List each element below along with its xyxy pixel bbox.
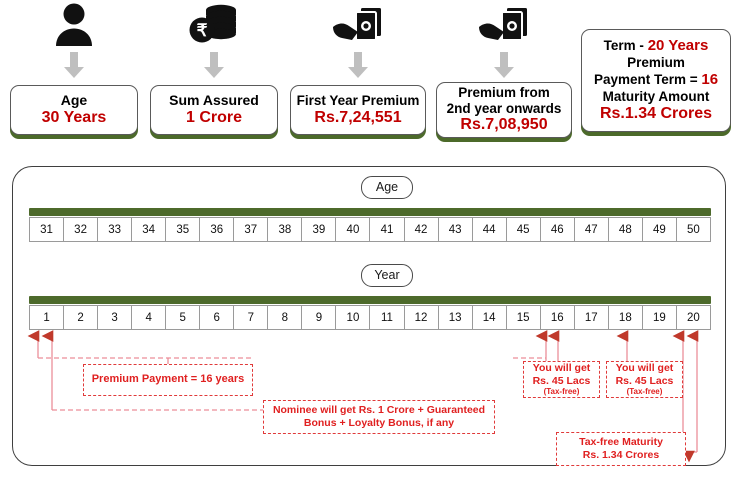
age-cell-43[interactable]: 43 — [439, 217, 473, 242]
age-cell-34[interactable]: 34 — [132, 217, 166, 242]
age-cell-39[interactable]: 39 — [302, 217, 336, 242]
year-pill-label: Year — [361, 264, 413, 287]
callout-maturity-line1: Tax-free Maturity — [579, 436, 663, 449]
age-green-bar — [29, 208, 711, 216]
year-cell-10[interactable]: 10 — [336, 305, 370, 330]
year-cell-1[interactable]: 1 — [29, 305, 64, 330]
callout-payout-year16-line2: Rs. 45 Lacs — [533, 375, 591, 388]
age-cell-row: 3132333435363738394041424344454647484950 — [29, 217, 711, 242]
year-green-bar — [29, 296, 711, 304]
payment-term-label: Payment Term = — [594, 72, 698, 87]
callout-payout-year16: You will get Rs. 45 Lacs (Tax-free) — [523, 361, 600, 398]
svg-text:₹: ₹ — [197, 21, 208, 40]
callout-nominee-line2: Bonus + Loyalty Bonus, if any — [304, 417, 454, 430]
callout-nominee-line1: Nominee will get Rs. 1 Crore + Guarantee… — [273, 404, 485, 417]
age-cell-35[interactable]: 35 — [166, 217, 200, 242]
year-cell-16[interactable]: 16 — [541, 305, 575, 330]
year-cell-3[interactable]: 3 — [98, 305, 132, 330]
callout-payout-year18: You will get Rs. 45 Lacs (Tax-free) — [606, 361, 683, 398]
age-cell-42[interactable]: 42 — [405, 217, 439, 242]
person-icon — [10, 2, 138, 48]
year-cell-20[interactable]: 20 — [677, 305, 711, 330]
card-age-value: 30 Years — [42, 109, 107, 128]
age-cell-41[interactable]: 41 — [370, 217, 404, 242]
age-cell-44[interactable]: 44 — [473, 217, 507, 242]
age-cell-48[interactable]: 48 — [609, 217, 643, 242]
card-sum-assured-label: Sum Assured — [169, 92, 259, 109]
age-cell-38[interactable]: 38 — [268, 217, 302, 242]
year-cell-8[interactable]: 8 — [268, 305, 302, 330]
card-renewal-premium: Premium from 2nd year onwards Rs.7,08,95… — [436, 82, 572, 138]
card-renewal-premium-value: Rs.7,08,950 — [460, 116, 547, 135]
rupee-coins-icon: ₹ — [150, 2, 278, 48]
term-line: Term - 20 Years — [604, 37, 709, 55]
callout-maturity: Tax-free Maturity Rs. 1.34 Crores — [556, 432, 686, 466]
callout-nominee: Nominee will get Rs. 1 Crore + Guarantee… — [263, 400, 495, 434]
year-cell-9[interactable]: 9 — [302, 305, 336, 330]
term-label: Term - — [604, 38, 644, 53]
age-pill-label: Age — [361, 176, 413, 199]
age-cell-33[interactable]: 33 — [98, 217, 132, 242]
down-arrow-icon — [493, 52, 515, 83]
top-summary-row: Age 30 Years ₹ — [0, 0, 740, 152]
callout-payout-year18-line3: (Tax-free) — [627, 387, 663, 397]
card-age: Age 30 Years — [10, 85, 138, 135]
year-cell-17[interactable]: 17 — [575, 305, 609, 330]
age-cell-36[interactable]: 36 — [200, 217, 234, 242]
hand-cash-icon — [436, 2, 572, 48]
year-cell-11[interactable]: 11 — [370, 305, 404, 330]
callout-payout-year18-line1: You will get — [616, 362, 674, 375]
year-cell-4[interactable]: 4 — [132, 305, 166, 330]
year-cell-18[interactable]: 18 — [609, 305, 643, 330]
age-cell-46[interactable]: 46 — [541, 217, 575, 242]
maturity-amount-value: Rs.1.34 Crores — [600, 105, 712, 124]
card-term-summary: Term - 20 Years Premium Payment Term = 1… — [581, 29, 731, 132]
term-value: 20 Years — [648, 37, 709, 54]
card-sum-assured: Sum Assured 1 Crore — [150, 85, 278, 135]
age-cell-49[interactable]: 49 — [643, 217, 677, 242]
year-cell-6[interactable]: 6 — [200, 305, 234, 330]
card-first-year-premium-value: Rs.7,24,551 — [314, 109, 401, 128]
callout-maturity-line2: Rs. 1.34 Crores — [583, 449, 659, 462]
infographic-root: Age 30 Years ₹ — [0, 0, 740, 479]
payment-term-line: Payment Term = 16 — [594, 71, 718, 89]
year-cell-13[interactable]: 13 — [439, 305, 473, 330]
callout-payout-year16-line3: (Tax-free) — [544, 387, 580, 397]
year-cell-5[interactable]: 5 — [166, 305, 200, 330]
year-cell-2[interactable]: 2 — [64, 305, 98, 330]
card-sum-assured-value: 1 Crore — [186, 109, 242, 128]
age-cell-40[interactable]: 40 — [336, 217, 370, 242]
year-cell-row: 1234567891011121314151617181920 — [29, 305, 711, 330]
age-cell-45[interactable]: 45 — [507, 217, 541, 242]
premium-label: Premium — [627, 55, 685, 71]
hand-cash-icon — [290, 2, 426, 48]
callout-payout-year18-line2: Rs. 45 Lacs — [616, 375, 674, 388]
maturity-amount-label: Maturity Amount — [603, 89, 710, 105]
down-arrow-icon — [63, 52, 85, 83]
card-renewal-premium-label2: 2nd year onwards — [447, 101, 562, 117]
card-renewal-premium-label: Premium from — [458, 85, 550, 101]
age-cell-31[interactable]: 31 — [29, 217, 64, 242]
callout-premium-payment-text: Premium Payment = 16 years — [92, 373, 245, 386]
callout-payout-year16-line1: You will get — [533, 362, 591, 375]
year-cell-7[interactable]: 7 — [234, 305, 268, 330]
age-cell-32[interactable]: 32 — [64, 217, 98, 242]
callout-premium-payment: Premium Payment = 16 years — [83, 364, 253, 396]
card-first-year-premium-label: First Year Premium — [297, 93, 420, 109]
age-cell-37[interactable]: 37 — [234, 217, 268, 242]
age-cell-47[interactable]: 47 — [575, 217, 609, 242]
year-cell-15[interactable]: 15 — [507, 305, 541, 330]
down-arrow-icon — [203, 52, 225, 83]
down-arrow-icon — [347, 52, 369, 83]
payment-term-value: 16 — [701, 71, 718, 88]
year-cell-14[interactable]: 14 — [473, 305, 507, 330]
card-age-label: Age — [61, 92, 87, 109]
year-cell-12[interactable]: 12 — [405, 305, 439, 330]
year-cell-19[interactable]: 19 — [643, 305, 677, 330]
age-cell-50[interactable]: 50 — [677, 217, 711, 242]
card-first-year-premium: First Year Premium Rs.7,24,551 — [290, 85, 426, 135]
